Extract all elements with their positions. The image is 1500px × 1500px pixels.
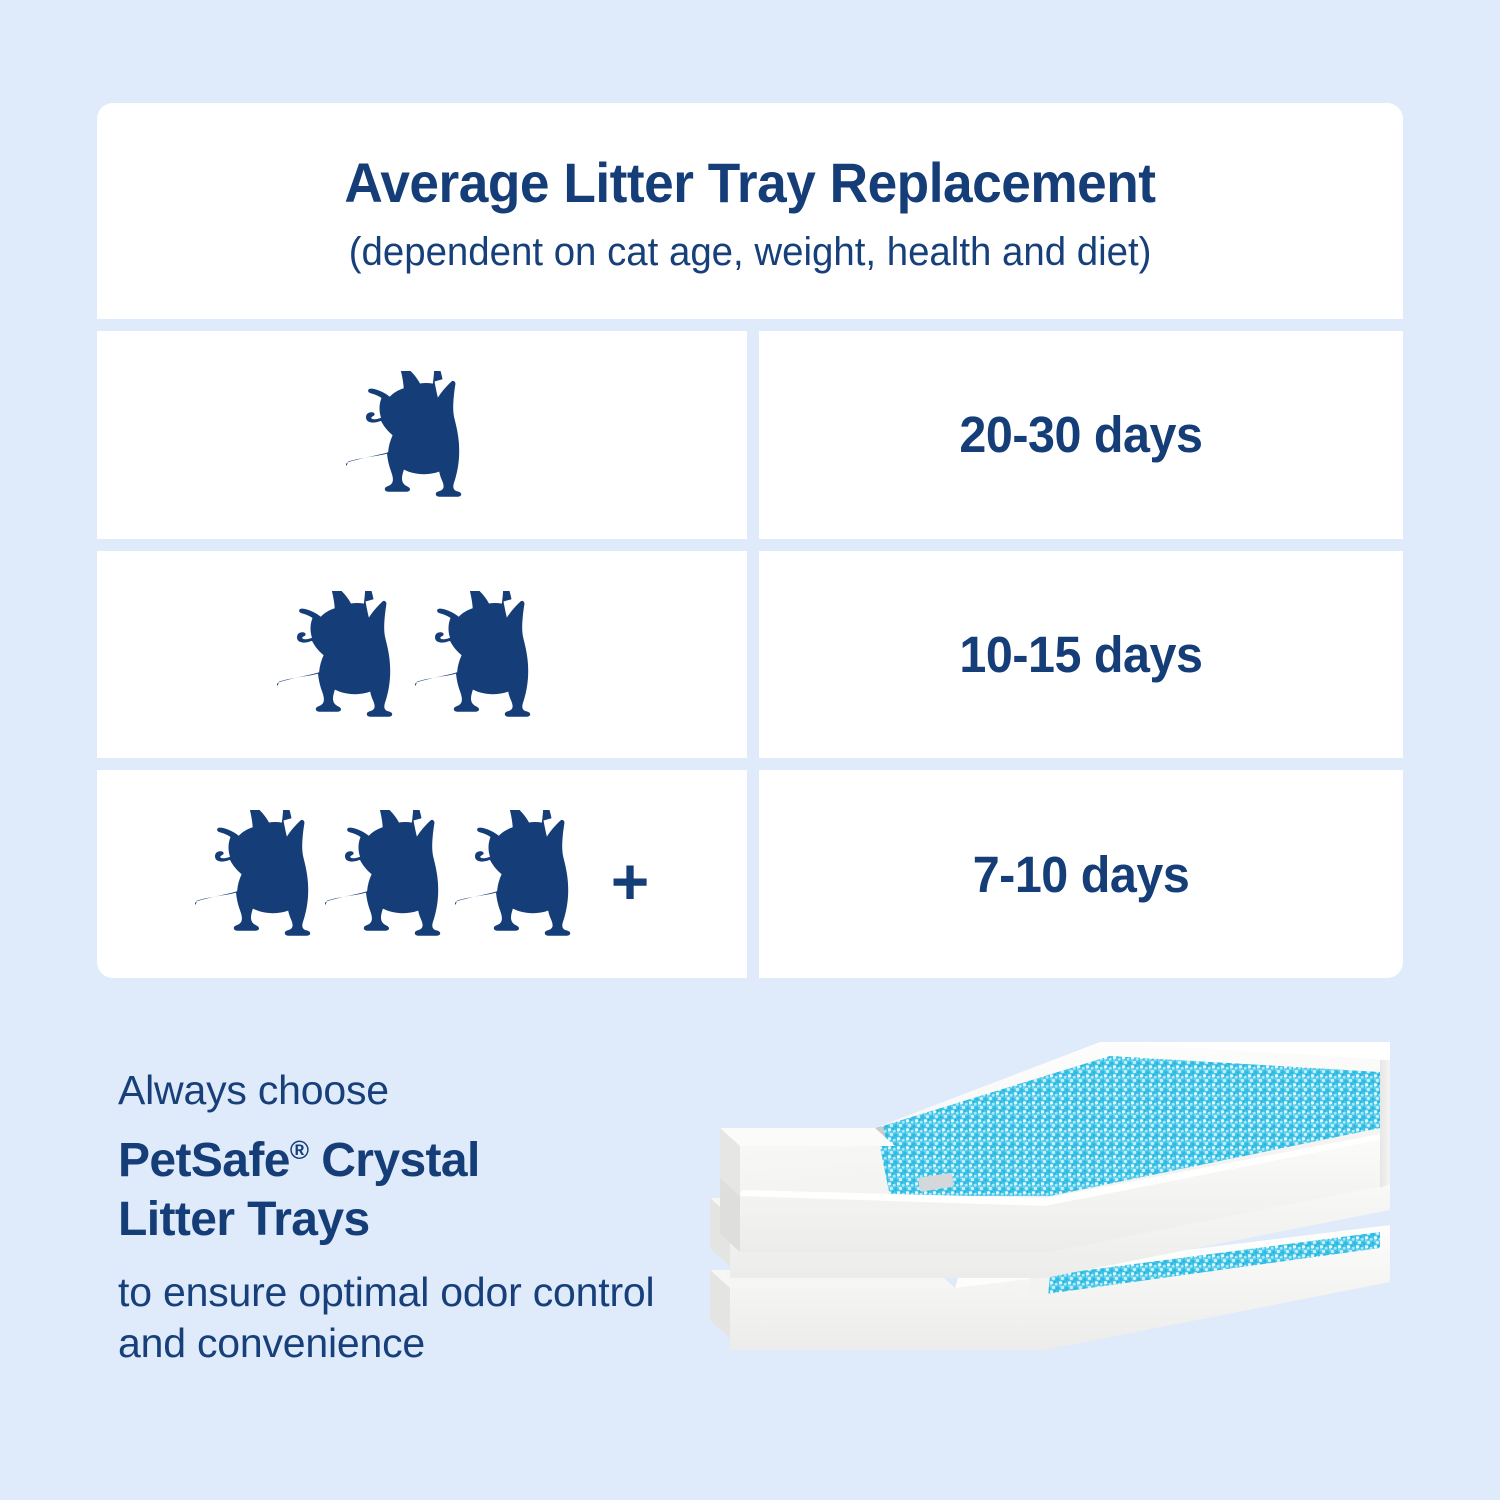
cat-silhouette-icon	[455, 810, 607, 938]
brand-petsafe: PetSafe	[118, 1134, 290, 1187]
stacked-litter-trays-image	[690, 1020, 1400, 1440]
table-cell-cats: +	[97, 770, 747, 978]
cat-silhouette-icon	[277, 591, 429, 719]
promo-line-1: Always choose	[118, 1065, 678, 1116]
card-header: Average Litter Tray Replacement (depende…	[97, 103, 1403, 319]
replacement-days-value: 10-15 days	[959, 625, 1202, 684]
brand-crystal: Crystal	[321, 1134, 480, 1187]
table-cell-value: 7-10 days	[759, 770, 1403, 978]
replacement-days-value: 7-10 days	[973, 845, 1190, 904]
replacement-table: 20-30 days 10-15 days	[97, 319, 1403, 978]
cat-group-one	[346, 371, 498, 499]
cat-silhouette-icon	[415, 591, 567, 719]
plus-icon: +	[611, 848, 650, 914]
brand-litter-trays: Litter Trays	[118, 1193, 370, 1246]
page-title: Average Litter Tray Replacement	[344, 154, 1155, 213]
cat-group-three-plus: +	[195, 810, 650, 938]
page-subtitle: (dependent on cat age, weight, health an…	[349, 228, 1152, 276]
table-row: 20-30 days	[97, 331, 1403, 539]
table-cell-cats	[97, 551, 747, 759]
litter-replacement-card: Average Litter Tray Replacement (depende…	[97, 103, 1403, 978]
table-cell-cats	[97, 331, 747, 539]
registered-trademark-icon: ®	[290, 1135, 309, 1165]
table-cell-value: 10-15 days	[759, 551, 1403, 759]
cat-group-two	[277, 591, 567, 719]
replacement-days-value: 20-30 days	[959, 405, 1202, 464]
cat-silhouette-icon	[346, 371, 498, 499]
promo-copy: Always choose PetSafe® Crystal Litter Tr…	[118, 1065, 678, 1369]
table-row: + 7-10 days	[97, 770, 1403, 978]
promo-brand-name: PetSafe® Crystal Litter Trays	[118, 1132, 678, 1249]
table-row: 10-15 days	[97, 551, 1403, 759]
promo-line-3: to ensure optimal odor control and conve…	[118, 1267, 678, 1369]
promo-section: Always choose PetSafe® Crystal Litter Tr…	[0, 1000, 1500, 1500]
table-cell-value: 20-30 days	[759, 331, 1403, 539]
